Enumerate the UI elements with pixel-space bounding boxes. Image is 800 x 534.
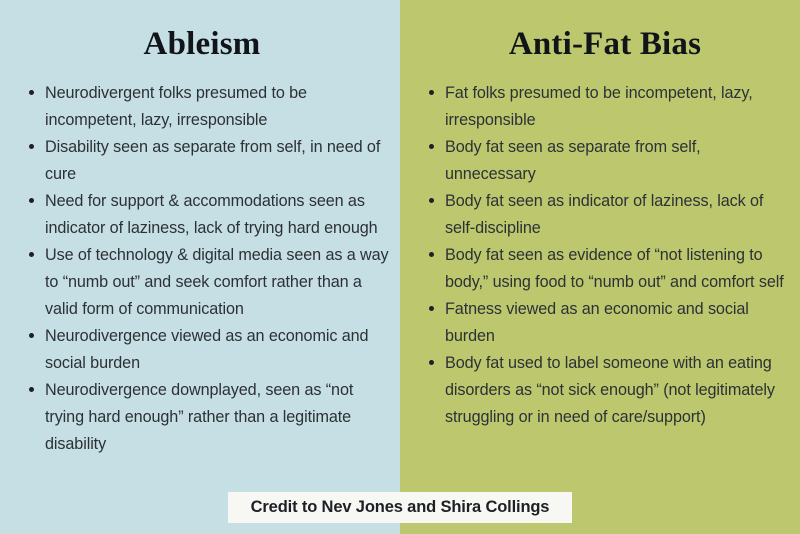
anti-fat-bias-bullet-list: Fat folks presumed to be incompetent, la…: [414, 80, 792, 431]
list-item: Neurodivergent folks presumed to be inco…: [12, 80, 390, 134]
bullet-dot-icon: [429, 90, 434, 95]
bullet-dot-icon: [29, 387, 34, 392]
anti-fat-bias-panel-heading: Anti-Fat Bias: [414, 0, 792, 61]
list-item-text: Body fat seen as indicator of laziness, …: [445, 192, 763, 237]
list-item: Need for support & accommodations seen a…: [12, 188, 390, 242]
comparison-infographic: Ableism Neurodivergent folks presumed to…: [0, 0, 800, 534]
list-item-text: Body fat used to label someone with an e…: [445, 354, 775, 426]
bullet-dot-icon: [429, 144, 434, 149]
bullet-dot-icon: [429, 360, 434, 365]
anti-fat-bias-panel: Anti-Fat Bias Fat folks presumed to be i…: [400, 0, 800, 534]
list-item-text: Body fat seen as separate from self, unn…: [445, 138, 701, 183]
list-item-text: Neurodivergent folks presumed to be inco…: [45, 84, 307, 129]
bullet-dot-icon: [29, 198, 34, 203]
bullet-dot-icon: [429, 252, 434, 257]
list-item: Fatness viewed as an economic and social…: [414, 296, 792, 350]
credit-bar: Credit to Nev Jones and Shira Collings: [228, 492, 572, 523]
list-item-text: Body fat seen as evidence of “not listen…: [445, 246, 784, 291]
list-item-text: Disability seen as separate from self, i…: [45, 138, 380, 183]
list-item: Body fat seen as indicator of laziness, …: [414, 188, 792, 242]
list-item-text: Fatness viewed as an economic and social…: [445, 300, 749, 345]
ableism-bullet-list: Neurodivergent folks presumed to be inco…: [12, 80, 390, 458]
list-item: Neurodivergence downplayed, seen as “not…: [12, 377, 390, 458]
list-item-text: Use of technology & digital media seen a…: [45, 246, 389, 318]
list-item: Fat folks presumed to be incompetent, la…: [414, 80, 792, 134]
list-item: Body fat seen as separate from self, unn…: [414, 134, 792, 188]
list-item: Body fat seen as evidence of “not listen…: [414, 242, 792, 296]
bullet-dot-icon: [29, 333, 34, 338]
bullet-dot-icon: [29, 90, 34, 95]
list-item-text: Neurodivergence viewed as an economic an…: [45, 327, 368, 372]
ableism-panel-heading: Ableism: [12, 0, 390, 61]
ableism-panel: Ableism Neurodivergent folks presumed to…: [0, 0, 400, 534]
list-item: Body fat used to label someone with an e…: [414, 350, 792, 431]
credit-text: Credit to Nev Jones and Shira Collings: [251, 498, 550, 517]
bullet-dot-icon: [29, 252, 34, 257]
list-item: Use of technology & digital media seen a…: [12, 242, 390, 323]
bullet-dot-icon: [29, 144, 34, 149]
bullet-dot-icon: [429, 306, 434, 311]
list-item-text: Neurodivergence downplayed, seen as “not…: [45, 381, 353, 453]
list-item: Disability seen as separate from self, i…: [12, 134, 390, 188]
list-item-text: Need for support & accommodations seen a…: [45, 192, 378, 237]
bullet-dot-icon: [429, 198, 434, 203]
list-item-text: Fat folks presumed to be incompetent, la…: [445, 84, 753, 129]
list-item: Neurodivergence viewed as an economic an…: [12, 323, 390, 377]
